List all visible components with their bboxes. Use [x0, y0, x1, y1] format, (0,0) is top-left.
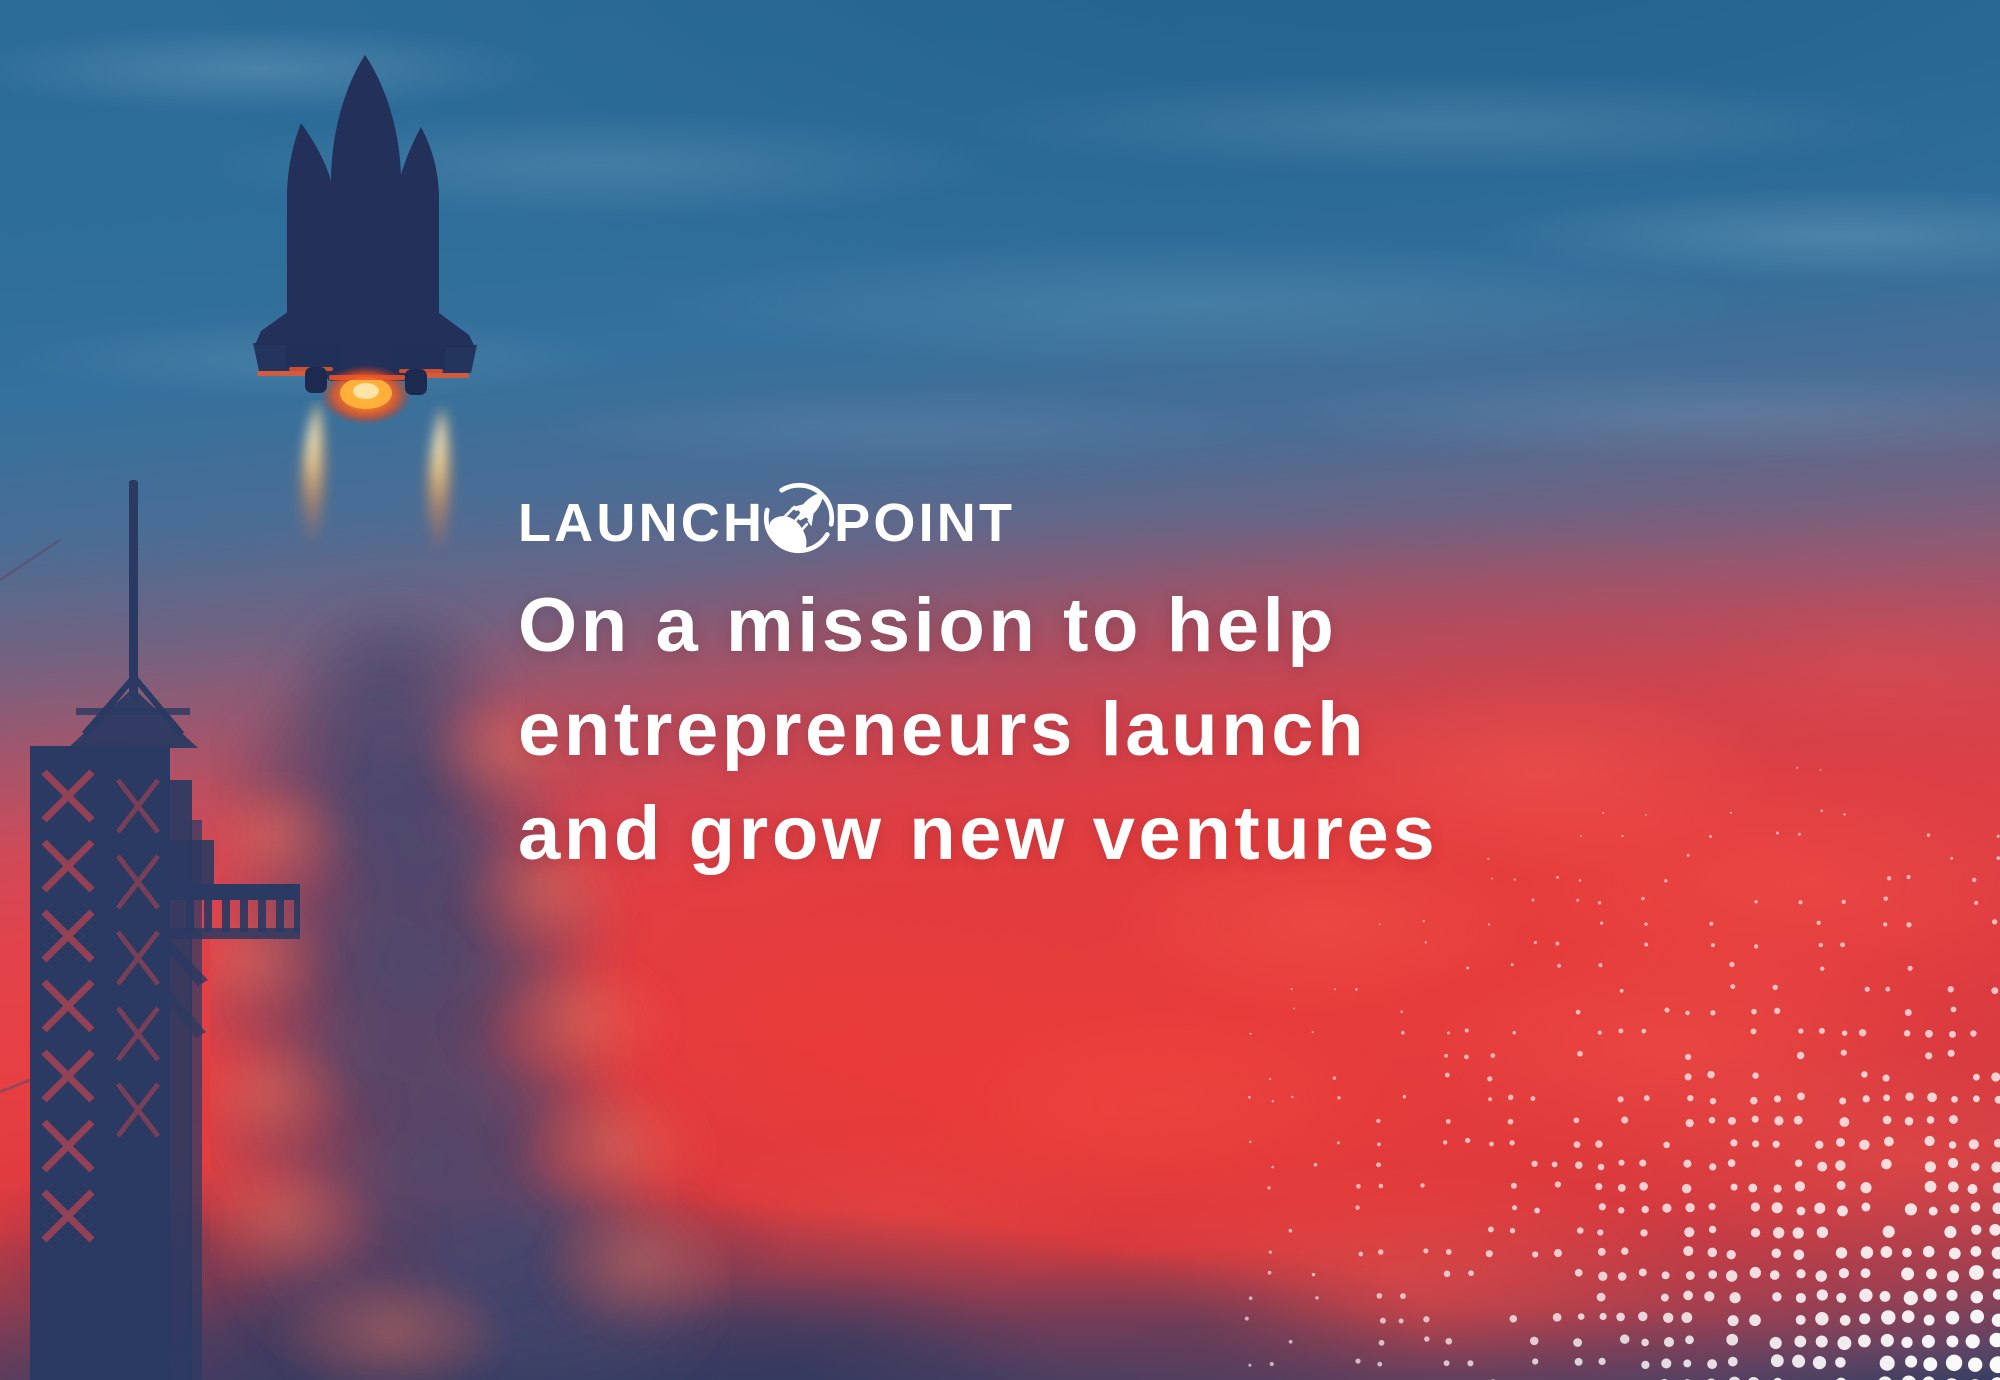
brand-logo[interactable]: LAUNCH: [518, 488, 1818, 558]
rocket-in-circle-icon: [760, 479, 838, 557]
headline-line-3: and grow new ventures: [518, 782, 1818, 886]
headline-line-1: On a mission to help: [518, 574, 1818, 678]
hero-banner: LAUNCH: [0, 0, 2000, 1380]
space-shuttle-graphic: [245, 45, 485, 465]
banner-content: LAUNCH: [518, 488, 1818, 886]
headline: On a mission to help entrepreneurs launc…: [518, 574, 1818, 886]
logo-word-point: POINT: [834, 496, 1015, 550]
logo-word-launch: LAUNCH: [518, 496, 765, 550]
headline-line-2: entrepreneurs launch: [518, 678, 1818, 782]
launch-tower-graphic: [0, 480, 300, 1380]
